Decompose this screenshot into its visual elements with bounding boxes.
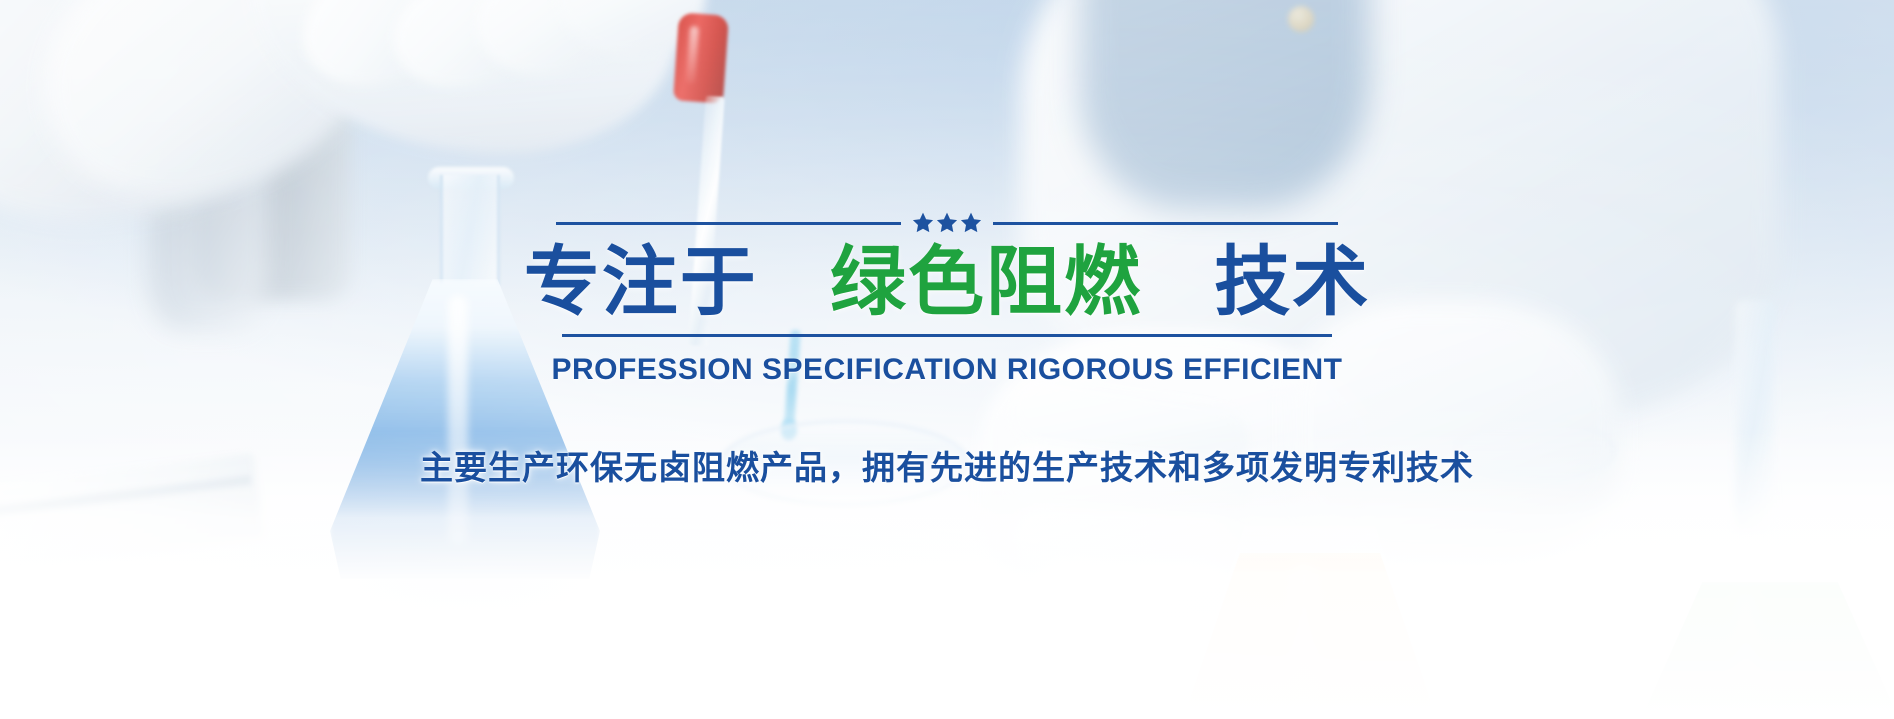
star-divider: [556, 212, 1338, 234]
headline-part-2: 绿色阻燃: [830, 240, 1142, 325]
banner-headline: 专注于 绿色阻燃 技术: [524, 242, 1371, 324]
banner-subtitle: PROFESSION SPECIFICATION RIGOROUS EFFICI…: [552, 353, 1343, 387]
headline-part-3: 技术: [1214, 240, 1370, 325]
hero-banner: 专注于 绿色阻燃 技术 PROFESSION SPECIFICATION RIG…: [0, 0, 1894, 719]
divider-line-right: [993, 222, 1338, 225]
headline-part-1: 专注于: [524, 240, 758, 325]
headline-underline: [562, 334, 1332, 337]
divider-line-left: [556, 222, 901, 225]
banner-description: 主要生产环保无卤阻燃产品，拥有先进的生产技术和多项发明专利技术: [420, 441, 1474, 489]
